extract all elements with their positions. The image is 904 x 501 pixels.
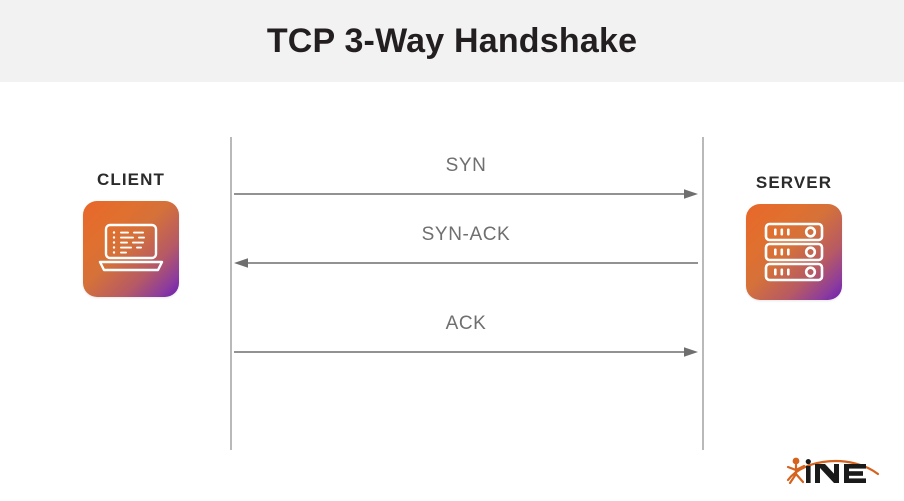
arrow-left-icon	[234, 256, 698, 270]
message-syn-ack-label: SYN-ACK	[234, 224, 698, 246]
page-title: TCP 3-Way Handshake	[267, 22, 637, 61]
participant-client-label: CLIENT	[51, 170, 211, 190]
message-syn-ack: SYN-ACK	[234, 224, 698, 270]
ine-logo	[778, 450, 884, 490]
client-icon-tile	[83, 201, 179, 297]
page-header: TCP 3-Way Handshake	[0, 0, 904, 82]
message-syn: SYN	[234, 155, 698, 201]
arrow-right-icon	[234, 187, 698, 201]
message-syn-label: SYN	[234, 155, 698, 177]
sequence-diagram: CLIENT	[0, 82, 904, 501]
server-rack-icon	[762, 220, 826, 284]
message-ack-label: ACK	[234, 313, 698, 335]
server-icon-tile	[746, 204, 842, 300]
participant-server-label: SERVER	[714, 173, 874, 193]
participant-server: SERVER	[714, 173, 874, 300]
message-ack: ACK	[234, 313, 698, 359]
lifeline-client	[230, 137, 232, 450]
arrow-right-icon	[234, 345, 698, 359]
laptop-icon	[97, 221, 165, 277]
participant-client: CLIENT	[51, 170, 211, 297]
lifeline-server	[702, 137, 704, 450]
